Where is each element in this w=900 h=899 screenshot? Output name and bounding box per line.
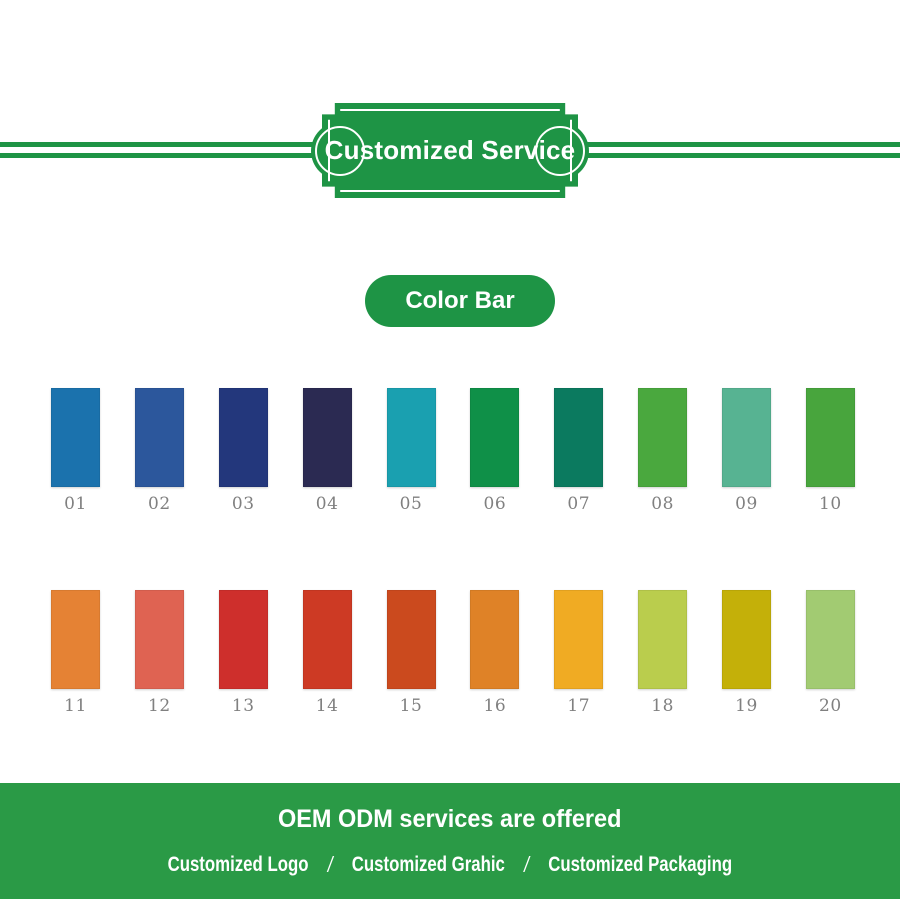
swatch-chip[interactable] <box>638 388 687 487</box>
swatch-label: 01 <box>64 496 87 513</box>
swatch-cell[interactable]: 07 <box>554 388 603 513</box>
header-banner: Customized Service <box>311 103 589 198</box>
swatch-cell[interactable]: 08 <box>638 388 687 513</box>
swatch-chip[interactable] <box>554 388 603 487</box>
footer-banner: OEM ODM services are offered Customized … <box>0 783 900 899</box>
swatch-chip[interactable] <box>135 590 184 689</box>
swatch-cell[interactable]: 02 <box>135 388 184 513</box>
swatch-label: 03 <box>232 496 255 513</box>
swatch-row-1: 01020304050607080910 <box>51 388 855 513</box>
swatch-cell[interactable]: 09 <box>722 388 771 513</box>
swatch-chip[interactable] <box>387 590 436 689</box>
swatch-label: 04 <box>316 496 339 513</box>
swatch-chip[interactable] <box>51 590 100 689</box>
swatch-cell[interactable]: 15 <box>387 590 436 715</box>
footer-item-logo: Customized Logo <box>166 853 310 877</box>
swatch-cell[interactable]: 18 <box>638 590 687 715</box>
swatch-chip[interactable] <box>470 590 519 689</box>
swatch-chip[interactable] <box>554 590 603 689</box>
footer-subline: Customized Logo / Customized Grahic / Cu… <box>166 852 734 878</box>
swatch-label: 13 <box>232 698 255 715</box>
swatch-chip[interactable] <box>51 388 100 487</box>
swatch-chip[interactable] <box>722 590 771 689</box>
swatch-label: 16 <box>484 698 507 715</box>
swatch-label: 14 <box>316 698 339 715</box>
swatch-label: 15 <box>400 698 423 715</box>
swatch-cell[interactable]: 16 <box>470 590 519 715</box>
swatch-cell[interactable]: 17 <box>554 590 603 715</box>
swatch-cell[interactable]: 20 <box>806 590 855 715</box>
swatch-cell[interactable]: 19 <box>722 590 771 715</box>
swatch-chip[interactable] <box>470 388 519 487</box>
swatch-chip[interactable] <box>387 388 436 487</box>
swatch-cell[interactable]: 04 <box>303 388 352 513</box>
swatch-chip[interactable] <box>303 590 352 689</box>
color-bar-pill-label: Color Bar <box>405 287 514 315</box>
footer-item-packaging: Customized Packaging <box>547 853 734 877</box>
swatch-cell[interactable]: 06 <box>470 388 519 513</box>
swatch-cell[interactable]: 14 <box>303 590 352 715</box>
swatch-label: 05 <box>400 496 423 513</box>
swatch-label: 11 <box>64 698 87 715</box>
swatch-label: 10 <box>819 496 842 513</box>
swatch-label: 08 <box>651 496 674 513</box>
swatch-cell[interactable]: 12 <box>135 590 184 715</box>
swatch-label: 19 <box>735 698 758 715</box>
swatch-cell[interactable]: 03 <box>219 388 268 513</box>
swatch-chip[interactable] <box>303 388 352 487</box>
swatch-label: 12 <box>148 698 171 715</box>
swatch-chip[interactable] <box>638 590 687 689</box>
swatch-label: 09 <box>735 496 758 513</box>
page-title: Customized Service <box>322 103 578 198</box>
footer-separator-1: / <box>310 852 350 878</box>
swatch-row-2: 11121314151617181920 <box>51 590 855 715</box>
swatch-label: 20 <box>819 698 842 715</box>
color-bar-pill: Color Bar <box>365 275 555 327</box>
swatch-chip[interactable] <box>806 388 855 487</box>
swatch-label: 17 <box>567 698 590 715</box>
swatch-chip[interactable] <box>722 388 771 487</box>
swatch-cell[interactable]: 05 <box>387 388 436 513</box>
swatch-cell[interactable]: 01 <box>51 388 100 513</box>
footer-separator-2: / <box>507 852 547 878</box>
swatch-chip[interactable] <box>806 590 855 689</box>
swatch-label: 02 <box>148 496 171 513</box>
swatch-label: 18 <box>651 698 674 715</box>
footer-item-graphic: Customized Grahic <box>350 853 506 877</box>
swatch-chip[interactable] <box>219 590 268 689</box>
swatch-label: 06 <box>484 496 507 513</box>
swatch-cell[interactable]: 10 <box>806 388 855 513</box>
footer-headline: OEM ODM services are offered <box>278 805 621 834</box>
header-section: Customized Service <box>0 0 900 230</box>
swatch-cell[interactable]: 11 <box>51 590 100 715</box>
swatch-cell[interactable]: 13 <box>219 590 268 715</box>
swatch-chip[interactable] <box>219 388 268 487</box>
swatch-label: 07 <box>567 496 590 513</box>
swatch-chip[interactable] <box>135 388 184 487</box>
